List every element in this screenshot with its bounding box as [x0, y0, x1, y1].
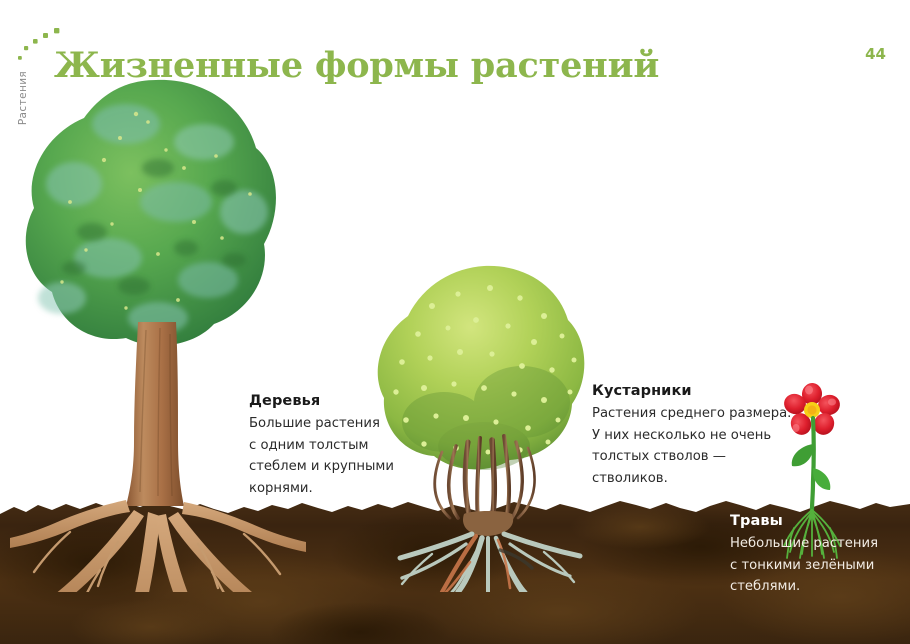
caption-shrubs-body: Растения среднего размера. У них несколь…: [592, 403, 807, 489]
caption-trees-heading: Деревья: [249, 393, 434, 409]
caption-shrubs-heading: Кустарники: [592, 383, 807, 399]
caption-trees: Деревья Большие растения с одним толстым…: [249, 393, 434, 499]
tree-illustration: [8, 72, 308, 592]
caption-trees-body: Большие растения с одним толстым стеблем…: [249, 413, 434, 499]
caption-herbs-body: Небольшие растения с тонкими зелёными ст…: [730, 533, 910, 598]
caption-herbs: Травы Небольшие растения с тонкими зелён…: [730, 513, 910, 598]
caption-herbs-heading: Травы: [730, 513, 910, 529]
caption-shrubs: Кустарники Растения среднего размера. У …: [592, 383, 807, 489]
page-number: 44: [865, 45, 886, 63]
page-title: Жизненные формы растений: [54, 45, 659, 86]
textbook-page: Растения Жизненные формы растений 44 Дер…: [0, 0, 910, 644]
chapter-side-label: Растения: [17, 53, 29, 143]
